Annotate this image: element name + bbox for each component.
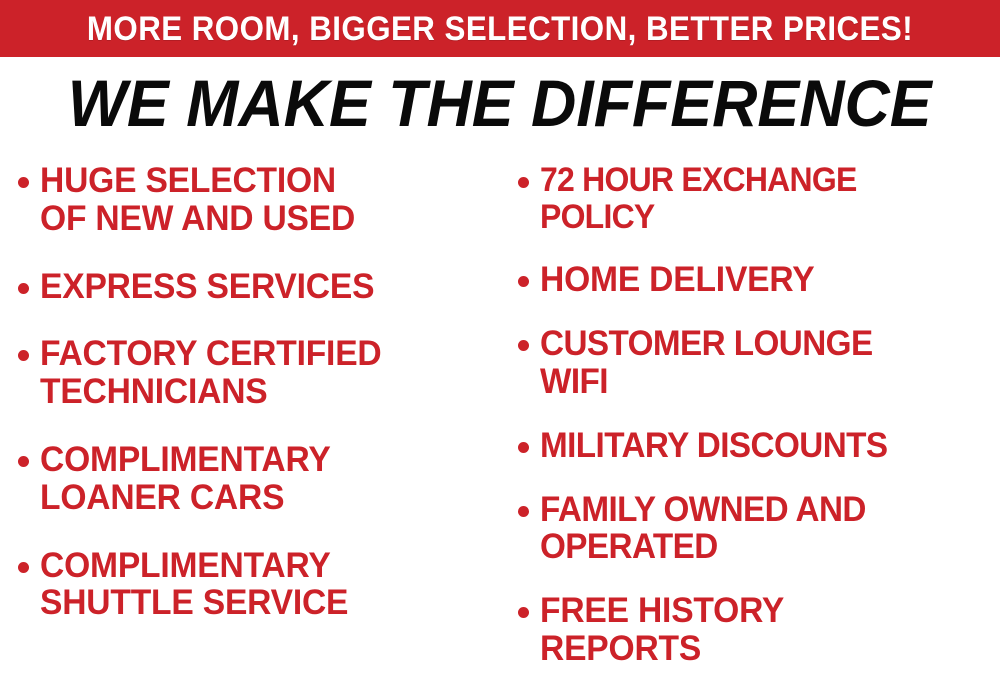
list-item-label: FAMILY OWNED AND OPERATED [540,491,866,567]
list-item: COMPLIMENTARY LOANER CARS [18,441,500,517]
list-item-label: HOME DELIVERY [540,261,814,299]
list-item: HUGE SELECTION OF NEW AND USED [18,162,500,238]
list-item-label: COMPLIMENTARY SHUTTLE SERVICE [40,547,348,623]
bullet-dot-icon [518,442,529,453]
bullet-dot-icon [518,177,529,188]
banner-headline-text: MORE ROOM, BIGGER SELECTION, BETTER PRIC… [87,12,913,46]
benefits-column-right: 72 HOUR EXCHANGE POLICY HOME DELIVERY CU… [500,152,1000,694]
list-item: FACTORY CERTIFIED TECHNICIANS [18,335,500,411]
list-item-label: CUSTOMER LOUNGE WIFI [540,325,873,401]
list-item-label: MILITARY DISCOUNTS [540,427,887,465]
bullet-dot-icon [518,607,529,618]
list-item: EXPRESS SERVICES [18,268,500,306]
bullet-dot-icon [18,177,29,188]
list-item-label: HUGE SELECTION OF NEW AND USED [40,162,355,238]
list-item-label: EXPRESS SERVICES [40,268,374,306]
list-item: 72 HOUR EXCHANGE POLICY [518,162,1000,235]
main-headline: WE MAKE THE DIFFERENCE [0,62,1000,144]
bullet-dot-icon [18,283,29,294]
list-item: HOME DELIVERY [518,261,1000,299]
bullet-dot-icon [518,506,529,517]
bullet-dot-icon [18,562,29,573]
benefits-columns: HUGE SELECTION OF NEW AND USED EXPRESS S… [0,152,1000,694]
list-item: COMPLIMENTARY SHUTTLE SERVICE [18,547,500,623]
bullet-dot-icon [18,456,29,467]
list-item: CUSTOMER LOUNGE WIFI [518,325,1000,401]
list-item: FAMILY OWNED AND OPERATED [518,491,1000,567]
list-item-label: FACTORY CERTIFIED TECHNICIANS [40,335,381,411]
list-item-label: 72 HOUR EXCHANGE POLICY [540,162,857,235]
headline-text: WE MAKE THE DIFFERENCE [68,70,932,136]
list-item-label: COMPLIMENTARY LOANER CARS [40,441,331,517]
top-banner: MORE ROOM, BIGGER SELECTION, BETTER PRIC… [0,0,1000,57]
list-item: MILITARY DISCOUNTS [518,427,1000,465]
list-item: FREE HISTORY REPORTS [518,592,1000,668]
bullet-dot-icon [518,276,529,287]
bullet-dot-icon [18,350,29,361]
promo-poster: MORE ROOM, BIGGER SELECTION, BETTER PRIC… [0,0,1000,694]
bullet-dot-icon [518,340,529,351]
list-item-label: FREE HISTORY REPORTS [540,592,784,668]
benefits-column-left: HUGE SELECTION OF NEW AND USED EXPRESS S… [0,152,500,694]
